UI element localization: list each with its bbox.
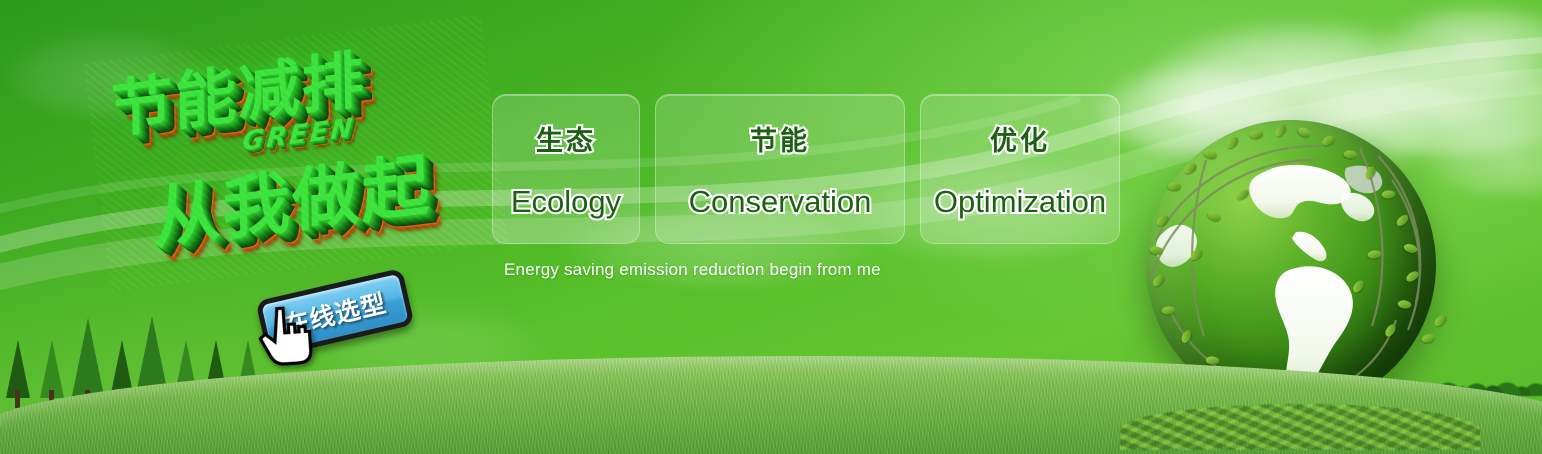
- feature-card-conservation[interactable]: 节能 Conservation: [655, 94, 905, 244]
- feature-card-list: 生态 Ecology 节能 Conservation 优化 Optimizati…: [492, 94, 1120, 244]
- online-selection-cta[interactable]: 在线选型: [252, 278, 422, 364]
- tree-trunk: [149, 390, 154, 408]
- headline-line-top: 节能减排: [110, 28, 366, 150]
- conifer-tree-icon: [136, 316, 168, 394]
- feature-card-title-en: Optimization: [934, 184, 1106, 220]
- feature-card-title-cn: 优化: [990, 119, 1050, 158]
- feature-card-title-cn: 生态: [536, 119, 596, 158]
- tree-trunk: [49, 390, 54, 408]
- feature-card-ecology[interactable]: 生态 Ecology: [492, 94, 640, 244]
- feature-card-title-en: Conservation: [689, 184, 872, 220]
- tree-trunk: [245, 390, 250, 408]
- banner-tagline: Energy saving emission reduction begin f…: [504, 260, 881, 280]
- conifer-tree-icon: [40, 340, 64, 398]
- tree-trunk: [119, 390, 124, 408]
- tree-trunk: [15, 390, 20, 408]
- conifer-tree-icon: [72, 318, 104, 396]
- cloud-icon: [0, 28, 220, 118]
- eco-hero-banner: 节能减排 GREEN 从我做起 在线选型 生态 Ecology 节能 Conse…: [0, 0, 1542, 454]
- conifer-tree-icon: [204, 340, 228, 398]
- conifer-tree-icon: [110, 340, 134, 398]
- tree-trunk: [213, 390, 218, 408]
- feature-card-title-cn: 节能: [750, 119, 810, 158]
- tree-trunk: [183, 390, 188, 408]
- tree-trunk: [85, 390, 90, 408]
- green-earth-globe-icon: [1146, 120, 1446, 420]
- hand-pointer-icon: [250, 302, 320, 372]
- conifer-tree-icon: [6, 340, 30, 398]
- headline-texture-overlay: [83, 14, 508, 291]
- treeline-icon: [400, 356, 760, 392]
- headline-3d: 节能减排 GREEN 从我做起: [96, 38, 496, 268]
- feature-card-title-en: Ecology: [511, 184, 621, 220]
- feature-card-optimization[interactable]: 优化 Optimization: [920, 94, 1120, 244]
- headline-line-green: GREEN: [241, 113, 356, 157]
- conifer-tree-icon: [174, 340, 198, 398]
- treeline-icon: [760, 352, 1180, 388]
- cloud-icon: [1380, 2, 1542, 82]
- headline-line-bottom: 从我做起: [152, 129, 432, 263]
